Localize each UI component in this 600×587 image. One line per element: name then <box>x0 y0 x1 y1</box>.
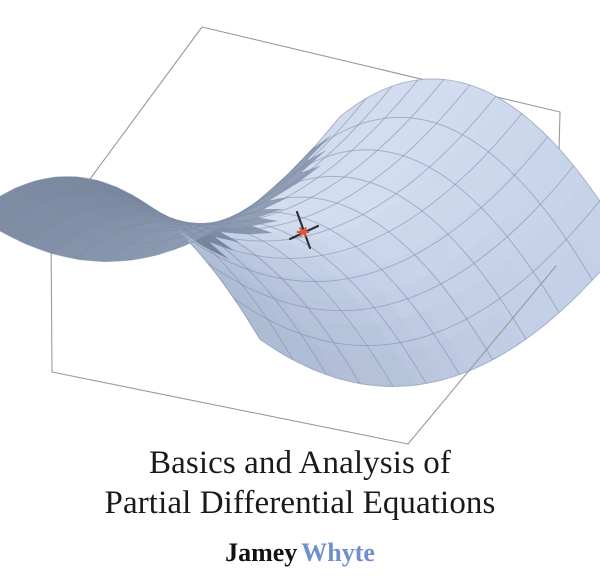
surface-plot <box>0 0 600 445</box>
title-line-2: Partial Differential Equations <box>0 483 600 523</box>
author-first-name: Jamey <box>225 538 297 567</box>
surface-plot-svg <box>0 0 600 445</box>
title-line-1: Basics and Analysis of <box>0 443 600 483</box>
book-cover: Basics and Analysis of Partial Different… <box>0 0 600 587</box>
cover-title: Basics and Analysis of Partial Different… <box>0 443 600 523</box>
cover-author: Jamey Whyte <box>0 537 600 569</box>
author-last-name: Whyte <box>301 538 375 567</box>
